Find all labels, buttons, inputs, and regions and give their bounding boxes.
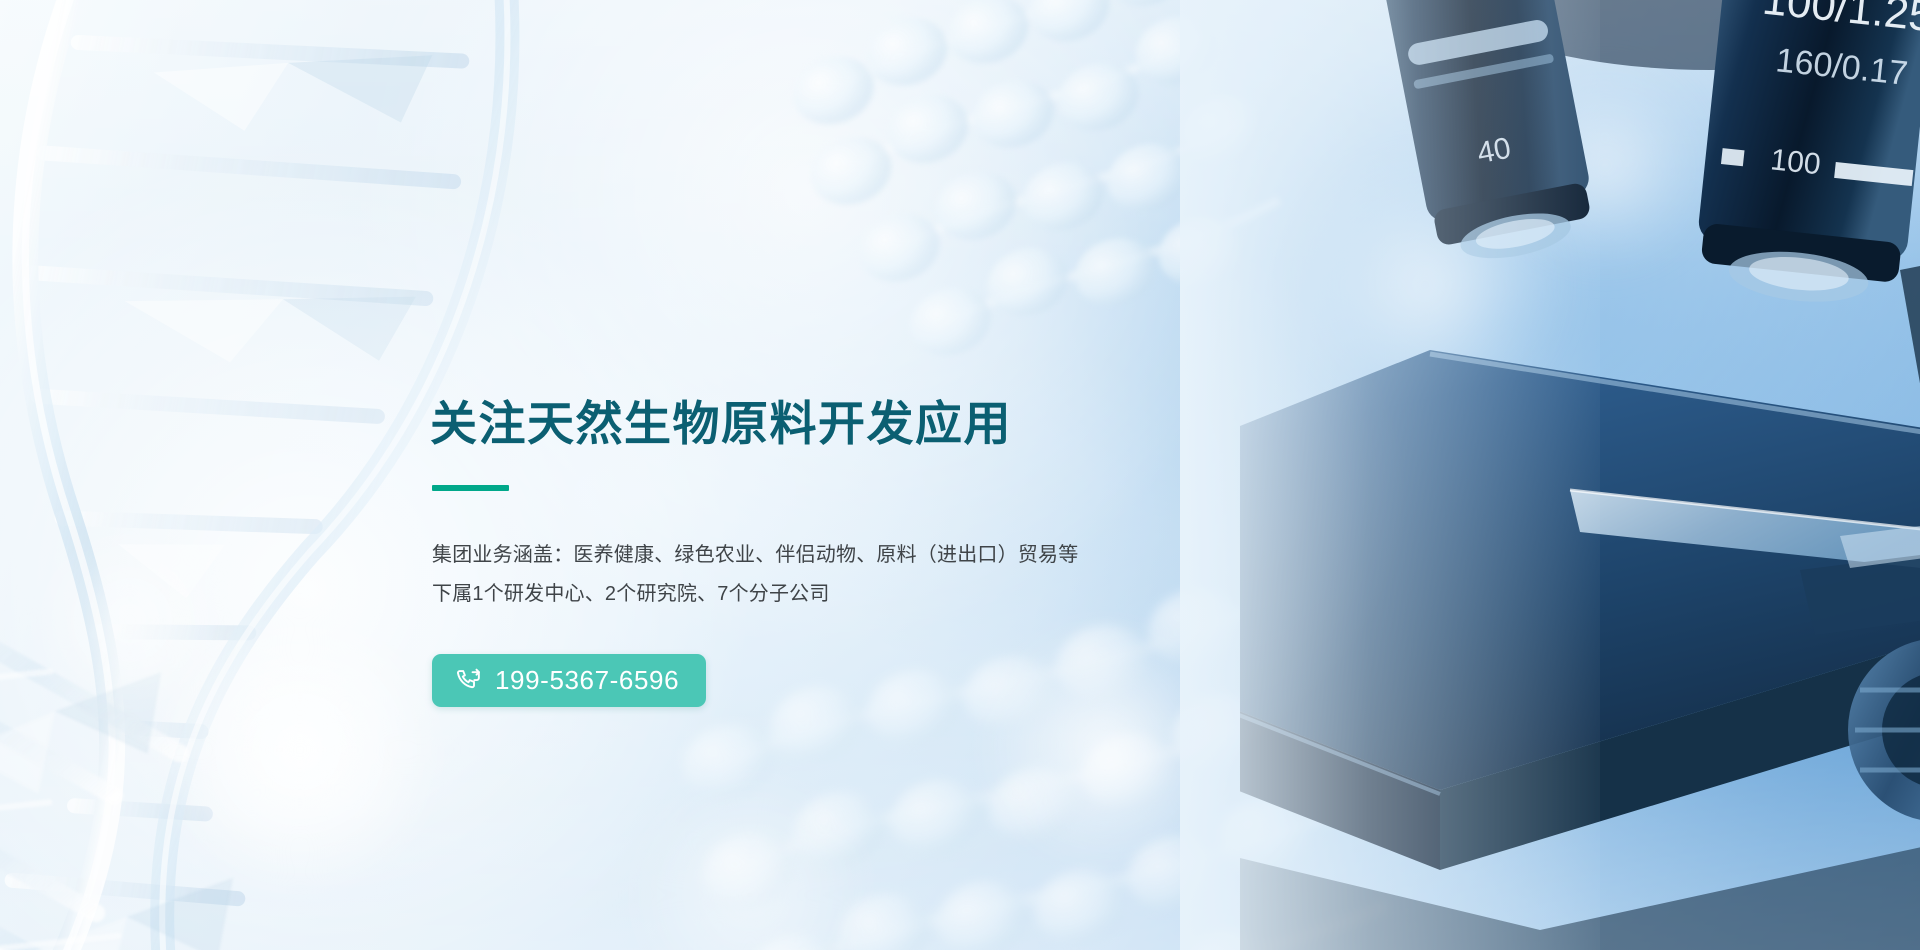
accent-underline — [432, 485, 509, 491]
page-title: 关注天然生物原料开发应用 — [430, 398, 1270, 451]
hero-description-line-2: 下属1个研发中心、2个研究院、7个分子公司 — [432, 575, 1270, 614]
phone-number-label: 199-5367-6596 — [495, 667, 679, 693]
hero-description: 集团业务涵盖：医养健康、绿色农业、伴侣动物、原料（进出口）贸易等 下属1个研发中… — [432, 536, 1270, 614]
phone-cta-button[interactable]: 199-5367-6596 — [432, 654, 706, 707]
hero-content: 关注天然生物原料开发应用 集团业务涵盖：医养健康、绿色农业、伴侣动物、原料（进出… — [430, 398, 1270, 707]
hero-banner: 40 100/1.25 160/0.17 100 — [0, 0, 1920, 950]
phone-forwarded-icon — [455, 667, 482, 694]
hero-description-line-1: 集团业务涵盖：医养健康、绿色农业、伴侣动物、原料（进出口）贸易等 — [432, 536, 1270, 575]
